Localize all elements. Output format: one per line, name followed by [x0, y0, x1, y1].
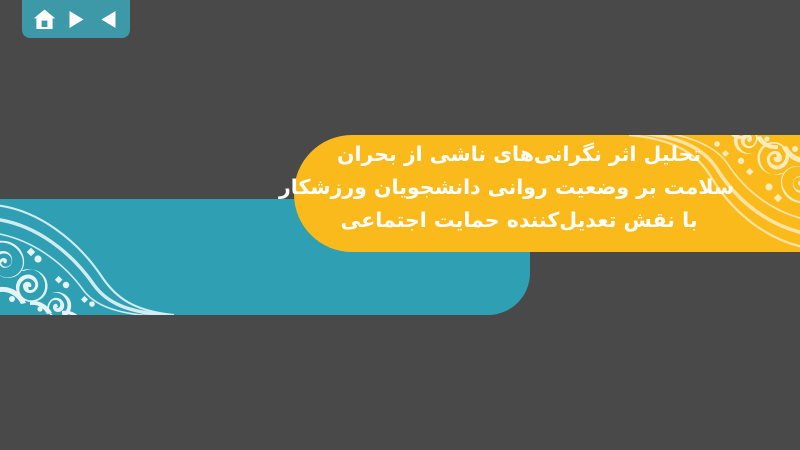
- next-slide-button[interactable]: [63, 6, 89, 32]
- previous-slide-button[interactable]: [95, 6, 121, 32]
- navigation-bar: [22, 0, 130, 38]
- triangle-left-icon: [100, 10, 117, 29]
- presentation-slide: تحلیل اثر نگرانی‌های ناشی از بحران سلامت…: [0, 0, 800, 450]
- title-line-2: سلامت بر وضعیت روانی دانشجویان ورزشکار: [304, 171, 734, 204]
- slide-title: تحلیل اثر نگرانی‌های ناشی از بحران سلامت…: [304, 138, 734, 237]
- title-line-1: تحلیل اثر نگرانی‌های ناشی از بحران: [304, 138, 734, 171]
- home-button[interactable]: [31, 6, 57, 32]
- home-icon: [33, 9, 56, 30]
- arabesque-corner-ornament: [0, 199, 174, 315]
- triangle-right-icon: [68, 10, 85, 29]
- title-line-3: با نقش تعدیل‌کننده حمایت اجتماعی: [304, 204, 734, 237]
